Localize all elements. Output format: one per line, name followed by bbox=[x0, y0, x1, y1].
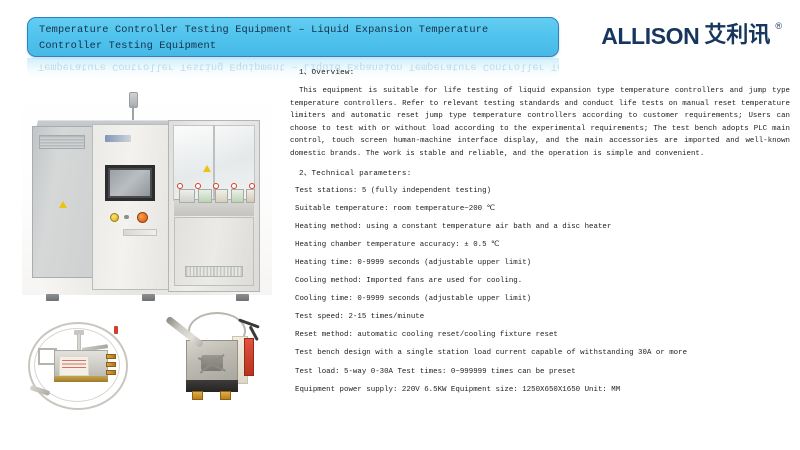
test-fixture bbox=[246, 189, 255, 203]
test-fixture bbox=[231, 189, 244, 203]
cabinet-test-chamber bbox=[168, 120, 260, 292]
switch-grey bbox=[124, 215, 129, 219]
test-fixture bbox=[215, 189, 228, 203]
terminal-blade bbox=[106, 362, 116, 367]
cabinet-foot bbox=[46, 294, 59, 301]
brand-logo: ALLISON 艾利讯 ® bbox=[601, 24, 782, 48]
product-description: 1、Overview: This equipment is suitable f… bbox=[290, 68, 790, 403]
warning-triangle-icon-chamber bbox=[203, 165, 211, 172]
terminal-blade bbox=[192, 391, 203, 400]
spec-load-current: Test bench design with a single station … bbox=[290, 348, 790, 358]
thermostat-mechanism-plate bbox=[186, 340, 238, 384]
page-title: Temperature Controller Testing Equipment… bbox=[27, 17, 559, 57]
registered-trademark-icon: ® bbox=[775, 22, 782, 31]
ventilation-grille bbox=[185, 266, 243, 277]
section-heading-overview: 1、Overview: bbox=[290, 68, 790, 78]
overview-paragraph: This equipment is suitable for life test… bbox=[290, 85, 790, 161]
cabinet-foot bbox=[236, 294, 249, 301]
spec-cooling-time: Cooling time: 0-9999 seconds (adjustable… bbox=[290, 294, 790, 304]
thermostat-housing-red bbox=[244, 338, 254, 376]
spec-test-load-and-times: Test load: 5-way 0-30A Test times: 0~999… bbox=[290, 367, 790, 377]
page-header: Temperature Controller Testing Equipment… bbox=[0, 0, 800, 70]
spec-heating-method: Heating method: using a constant tempera… bbox=[290, 222, 790, 232]
thermostat-base-plate bbox=[54, 376, 108, 382]
thermostat-spec-label bbox=[59, 356, 89, 376]
spec-power-supply-and-size: Equipment power supply: 220V 6.5KW Equip… bbox=[290, 385, 790, 395]
adjust-shaft bbox=[77, 334, 81, 350]
touchscreen-hmi bbox=[105, 165, 155, 201]
brand-logo-cn: 艾利讯 bbox=[704, 24, 770, 48]
terminal-blade bbox=[106, 370, 116, 375]
spec-test-speed: Test speed: 2-15 times/minute bbox=[290, 312, 790, 322]
cabinet-foot bbox=[142, 294, 155, 301]
indicator-light-yellow bbox=[110, 213, 119, 222]
section-heading-technical-parameters: 2、Technical parameters: bbox=[290, 169, 790, 179]
cabinet-left-panel bbox=[32, 126, 94, 278]
machine-photo bbox=[22, 80, 272, 295]
spec-reset-method: Reset method: automatic cooling reset/co… bbox=[290, 330, 790, 340]
panel-label-strip bbox=[123, 229, 157, 236]
product-photo-thermostat-capillary bbox=[150, 306, 272, 418]
cabinet-lower-door bbox=[174, 217, 254, 286]
capillary-tip-marker bbox=[114, 326, 118, 334]
test-fixture bbox=[179, 189, 195, 203]
spec-cooling-method: Cooling method: Imported fans are used f… bbox=[290, 276, 790, 286]
warning-triangle-icon bbox=[59, 201, 67, 208]
terminal-blade bbox=[106, 354, 116, 359]
terminal-blade bbox=[220, 391, 231, 400]
cabinet-control-panel bbox=[92, 124, 170, 290]
test-fixture bbox=[198, 189, 212, 203]
spec-test-stations: Test stations: 5 (fully independent test… bbox=[290, 186, 790, 196]
spec-heating-time: Heating time: 0-9999 seconds (adjustable… bbox=[290, 258, 790, 268]
product-image-column bbox=[0, 66, 285, 450]
cabinet-brand-tag bbox=[105, 135, 131, 142]
brand-logo-en: ALLISON bbox=[601, 24, 699, 48]
emergency-stop-button bbox=[137, 212, 148, 223]
spec-heating-chamber-accuracy: Heating chamber temperature accuracy: ± … bbox=[290, 240, 790, 250]
spec-suitable-temperature: Suitable temperature: room temperature~2… bbox=[290, 204, 790, 214]
thermostat-body bbox=[54, 350, 108, 378]
product-photo-thermostat-coiled bbox=[18, 312, 142, 416]
